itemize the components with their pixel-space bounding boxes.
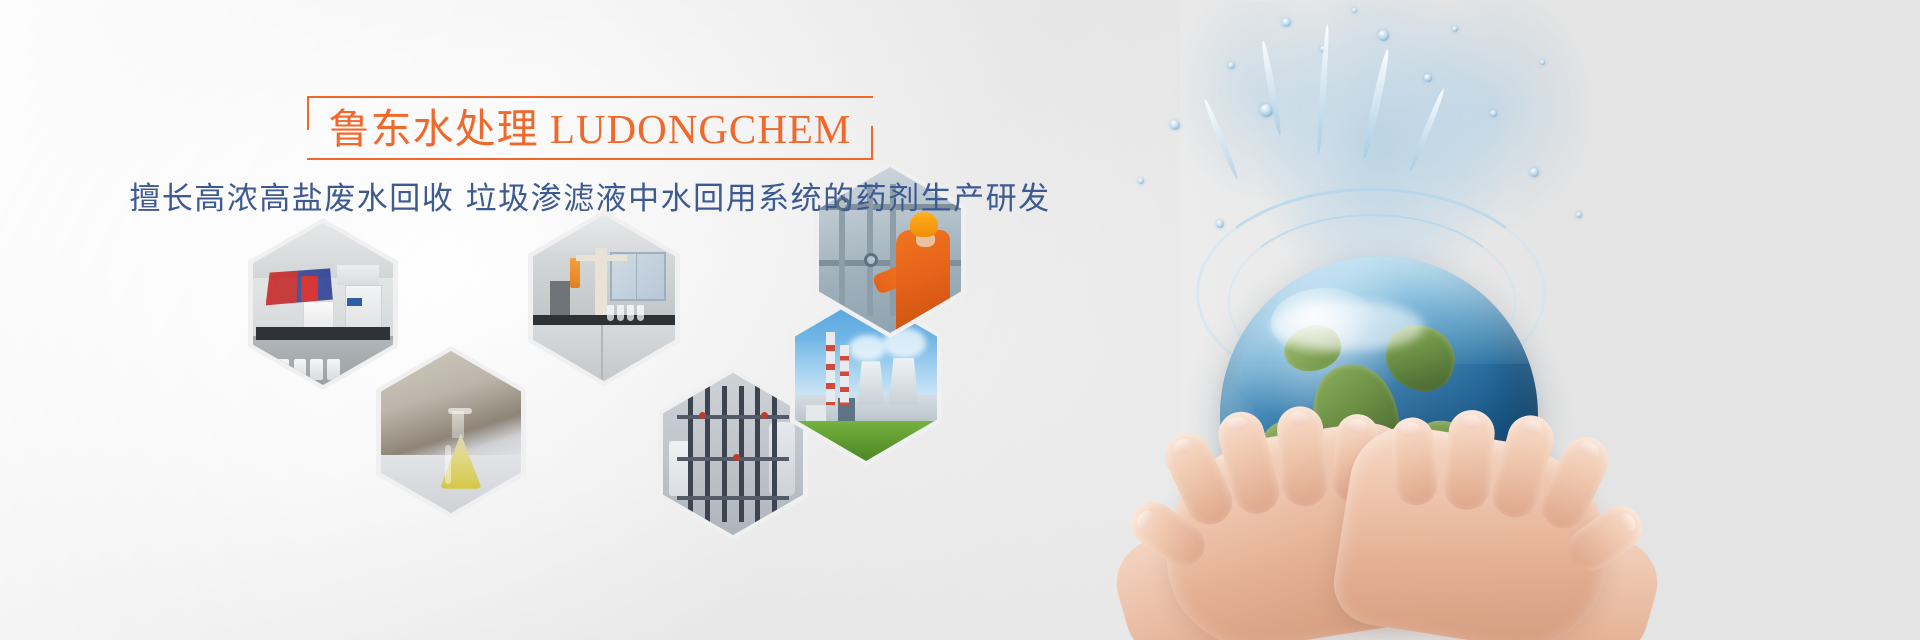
finger	[1213, 407, 1284, 519]
water-droplet	[1320, 46, 1326, 52]
fingernail	[1134, 507, 1157, 531]
bracket-top-horizontal-line	[307, 96, 874, 98]
banner-text-block: 鲁东水处理 LUDONGCHEM 擅长高浓高盐废水回收 垃圾渗滤液中水回用系统的…	[0, 96, 1180, 219]
thumb	[1123, 493, 1214, 575]
hex-tile-chemistry-lab	[528, 210, 680, 386]
fingernail	[1616, 510, 1639, 534]
hex-tile-piping-system	[658, 368, 808, 540]
fingernail	[1226, 415, 1249, 434]
bracket-bottom-right-vertical-line	[871, 126, 873, 160]
globe-landmass	[1379, 318, 1462, 397]
finger	[1275, 404, 1330, 508]
banner-title-wrapper: 鲁东水处理 LUDONGCHEM	[307, 96, 874, 160]
globe-landmass	[1399, 416, 1486, 508]
water-streak	[1360, 48, 1391, 159]
water-droplet	[1228, 62, 1235, 69]
finger	[1487, 410, 1558, 522]
bracket-bottom-horizontal-line	[307, 158, 874, 160]
hexagon-photo-cluster	[248, 218, 968, 518]
water-streak	[1202, 98, 1240, 180]
water-streak	[1315, 24, 1330, 154]
water-crown-wave	[1196, 188, 1546, 398]
hex-tile-laboratory-room	[248, 218, 398, 390]
bracket-top-left-vertical-line	[307, 96, 309, 130]
globe-landmass	[1250, 415, 1318, 491]
hero-banner: 鲁东水处理 LUDONGCHEM 擅长高浓高盐废水回收 垃圾渗滤液中水回用系统的…	[0, 0, 1920, 640]
finger	[1390, 416, 1440, 507]
water-droplet	[1530, 168, 1539, 177]
globe-cloud	[1271, 301, 1424, 352]
water-droplet	[1216, 220, 1224, 228]
globe-highlight	[1271, 288, 1379, 358]
water-droplet	[1260, 104, 1273, 117]
fingernail	[1461, 414, 1482, 430]
water-crown-wave	[1228, 214, 1516, 390]
water-droplet	[1352, 8, 1357, 13]
globe-waterline	[1220, 256, 1538, 364]
water-droplet	[1540, 60, 1545, 65]
palm-left	[1150, 414, 1447, 640]
fingernail	[1400, 422, 1421, 438]
globe-cloud	[1360, 453, 1500, 498]
fingernail	[1288, 411, 1309, 427]
water-droplet	[1490, 110, 1497, 117]
hex-tile-flask	[376, 346, 526, 518]
page-title: 鲁东水处理 LUDONGCHEM	[329, 106, 852, 152]
water-droplet	[1378, 30, 1389, 41]
water-droplet	[1424, 74, 1432, 82]
fingernail	[1577, 439, 1601, 460]
fingernail	[1171, 436, 1195, 457]
finger	[1442, 408, 1497, 512]
fingernail	[1521, 418, 1544, 437]
thumb	[1560, 497, 1651, 579]
palm-right	[1328, 418, 1624, 640]
water-streak	[1260, 40, 1284, 136]
water-droplet	[1576, 212, 1582, 218]
water-streak	[1408, 88, 1447, 172]
hands-holding-globe	[1150, 392, 1620, 640]
finger	[1331, 412, 1381, 503]
globe-landmass	[1277, 317, 1347, 380]
fingernail	[1347, 418, 1368, 434]
water-droplet	[1452, 26, 1458, 32]
finger	[1158, 426, 1240, 532]
finger	[1534, 430, 1616, 536]
globe-landmass	[1305, 357, 1408, 480]
forearm-right	[1490, 512, 1667, 640]
forearm-left	[1106, 512, 1283, 640]
page-subtitle: 擅长高浓高盐废水回收 垃圾渗滤液中水回用系统的药剂生产研发	[0, 179, 1180, 219]
water-droplet	[1282, 18, 1291, 27]
earth-globe	[1220, 256, 1538, 574]
